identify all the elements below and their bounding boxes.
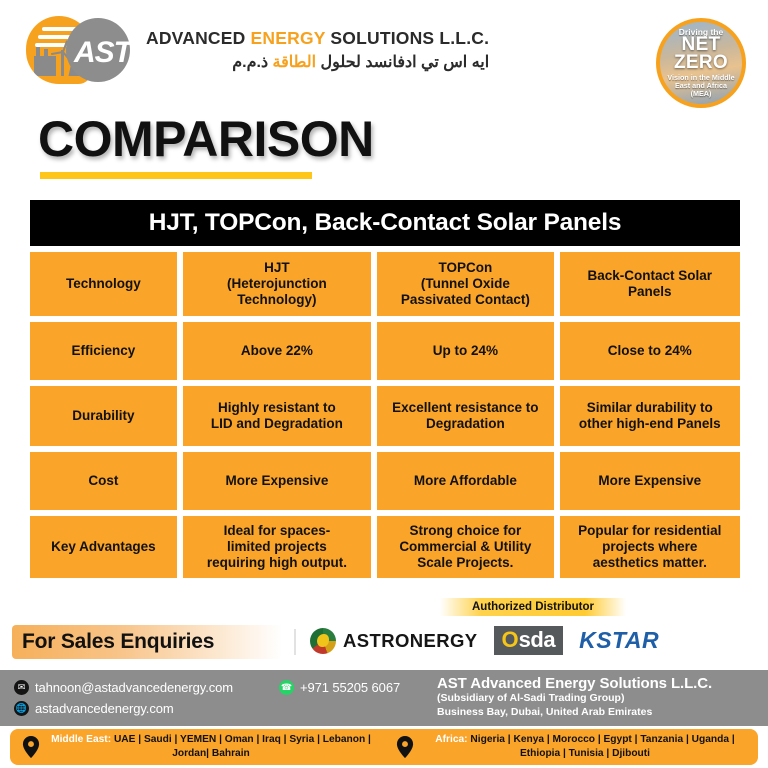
contact-email[interactable]: tahnoon@astadvancedenergy.com bbox=[35, 680, 233, 695]
page-title-block: COMPARISON bbox=[38, 114, 374, 179]
region-countries: Nigeria | Kenya | Morocco | Egypt | Tanz… bbox=[468, 734, 735, 759]
net-zero-badge: Driving the NET ZERO Vision in the Middl… bbox=[656, 18, 746, 108]
table-cell: Strong choice for Commercial & Utility S… bbox=[377, 516, 553, 578]
row-label-durability: Durability bbox=[30, 386, 177, 446]
partner-astronergy: ASTRONERGY bbox=[310, 628, 478, 654]
vertical-divider bbox=[294, 629, 296, 655]
envelope-icon: ✉ bbox=[14, 680, 29, 695]
table-cell: Highly resistant to LID and Degradation bbox=[183, 386, 371, 446]
badge-subtitle: Vision in the Middle East and Africa (ME… bbox=[667, 74, 734, 98]
region-middle-east-text: Middle East: UAE | Saudi | YEMEN | Oman … bbox=[46, 733, 384, 761]
column-header-topcon: TOPCon (Tunnel Oxide Passivated Contact) bbox=[377, 252, 553, 316]
table-row: Efficiency Above 22% Up to 24% Close to … bbox=[30, 322, 740, 380]
table-cell: More Expensive bbox=[183, 452, 371, 510]
table-heading-text: HJT, TOPCon, Back-Contact Solar Panels bbox=[149, 209, 622, 237]
row-label-cost: Cost bbox=[30, 452, 177, 510]
company-subsidiary: (Subsidiary of Al-Sadi Trading Group) bbox=[437, 692, 712, 706]
contact-bar: ✉ tahnoon@astadvancedenergy.com 🌐 astadv… bbox=[0, 670, 768, 726]
brand-logo: AST ADVANCED ENERGY SOLUTIONS L.L.C. ايه… bbox=[22, 14, 489, 86]
contact-website[interactable]: astadvancedenergy.com bbox=[35, 701, 174, 716]
contact-website-row[interactable]: 🌐 astadvancedenergy.com bbox=[14, 698, 233, 719]
partner-logos: ASTRONERGY Osda KSTAR bbox=[310, 626, 659, 655]
table-cell: More Affordable bbox=[377, 452, 553, 510]
column-header-technology: Technology bbox=[30, 252, 177, 316]
contact-left-group: ✉ tahnoon@astadvancedenergy.com 🌐 astadv… bbox=[14, 677, 233, 719]
table-cell: Above 22% bbox=[183, 322, 371, 380]
comparison-table: HJT, TOPCon, Back-Contact Solar Panels T… bbox=[30, 200, 740, 578]
table-cell: Similar durability to other high-end Pan… bbox=[560, 386, 740, 446]
table-cell: Ideal for spaces- limited projects requi… bbox=[183, 516, 371, 578]
ast-solar-logo-icon: AST bbox=[22, 14, 140, 86]
contact-phone-row[interactable]: ☎ +971 55205 6067 bbox=[279, 677, 400, 698]
company-name: AST Advanced Energy Solutions L.L.C. bbox=[437, 675, 712, 692]
regions-bar: Middle East: UAE | Saudi | YEMEN | Oman … bbox=[10, 729, 758, 765]
region-africa: Africa: Nigeria | Kenya | Morocco | Egyp… bbox=[384, 729, 758, 765]
table-row: Durability Highly resistant to LID and D… bbox=[30, 386, 740, 446]
table-row: Cost More Expensive More Affordable More… bbox=[30, 452, 740, 510]
badge-zero-text: ZERO bbox=[674, 54, 728, 72]
region-middle-east: Middle East: UAE | Saudi | YEMEN | Oman … bbox=[10, 729, 384, 765]
osda-label-a: O bbox=[502, 629, 519, 651]
authorized-distributor-label: Authorized Distributor bbox=[472, 601, 594, 613]
region-africa-text: Africa: Nigeria | Kenya | Morocco | Egyp… bbox=[420, 733, 758, 761]
brand-name-ar: ايه اس تي ادفانسد لحلول الطاقة ذ.م.م bbox=[146, 52, 489, 72]
title-underline bbox=[40, 172, 312, 179]
table-cell: More Expensive bbox=[560, 452, 740, 510]
globe-icon: 🌐 bbox=[14, 701, 29, 716]
company-info: AST Advanced Energy Solutions L.L.C. (Su… bbox=[437, 675, 712, 719]
table-cell: Close to 24% bbox=[560, 322, 740, 380]
kstar-logo-icon: KSTAR bbox=[579, 627, 659, 654]
sales-enquiries-band: For Sales Enquiries bbox=[12, 625, 282, 659]
table-header-row: Technology HJT (Heterojunction Technolog… bbox=[30, 252, 740, 316]
row-label-key-advantages: Key Advantages bbox=[30, 516, 177, 578]
company-address: Business Bay, Dubai, United Arab Emirate… bbox=[437, 706, 712, 720]
page-title: COMPARISON bbox=[38, 114, 374, 164]
osda-label-b: sda bbox=[519, 629, 555, 651]
table-heading-bar: HJT, TOPCon, Back-Contact Solar Panels bbox=[30, 200, 740, 246]
logo-monogram: AST bbox=[74, 36, 131, 70]
brand-text: ADVANCED ENERGY SOLUTIONS L.L.C. ايه اس … bbox=[146, 28, 489, 72]
sales-enquiries-label: For Sales Enquiries bbox=[12, 630, 214, 654]
table-row: Key Advantages Ideal for spaces- limited… bbox=[30, 516, 740, 578]
astronergy-globe-icon bbox=[310, 628, 336, 654]
row-label-efficiency: Efficiency bbox=[30, 322, 177, 380]
astronergy-label: ASTRONERGY bbox=[343, 630, 478, 652]
table-cell: Excellent resistance to Degradation bbox=[377, 386, 553, 446]
region-label: Middle East: bbox=[51, 734, 111, 745]
table-cell: Up to 24% bbox=[377, 322, 553, 380]
region-label: Africa: bbox=[435, 734, 467, 745]
authorized-distributor-badge: Authorized Distributor bbox=[440, 598, 626, 616]
column-header-back-contact: Back-Contact Solar Panels bbox=[560, 252, 740, 316]
table-cell: Popular for residential projects where a… bbox=[560, 516, 740, 578]
contact-phone[interactable]: +971 55205 6067 bbox=[300, 680, 400, 695]
region-countries: UAE | Saudi | YEMEN | Oman | Iraq | Syri… bbox=[111, 734, 371, 759]
osda-logo-icon: Osda bbox=[494, 626, 564, 655]
page-header: AST ADVANCED ENERGY SOLUTIONS L.L.C. ايه… bbox=[0, 0, 768, 112]
contact-email-row[interactable]: ✉ tahnoon@astadvancedenergy.com bbox=[14, 677, 233, 698]
brand-name-en: ADVANCED ENERGY SOLUTIONS L.L.C. bbox=[146, 28, 489, 49]
whatsapp-icon: ☎ bbox=[279, 680, 294, 695]
map-pin-icon bbox=[396, 736, 414, 758]
map-pin-icon bbox=[22, 736, 40, 758]
column-header-hjt: HJT (Heterojunction Technology) bbox=[183, 252, 371, 316]
